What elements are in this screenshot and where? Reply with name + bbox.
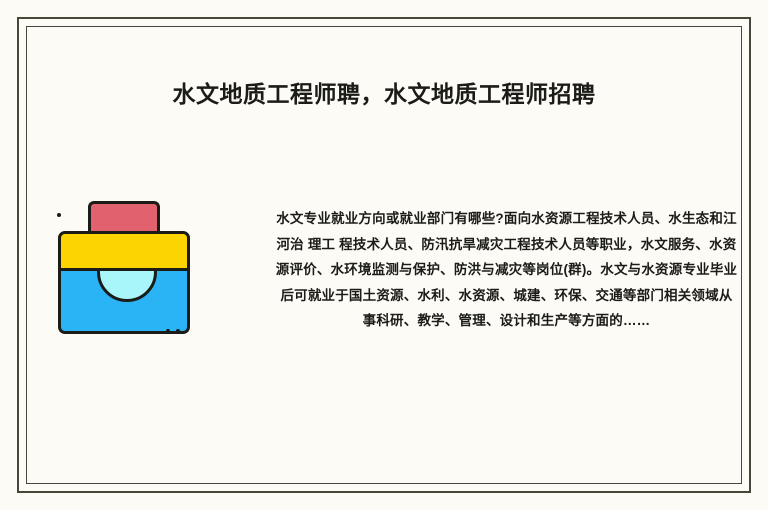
- article-body-text: 水文专业就业方向或就业部门有哪些?面向水资源工程技术人员、水生态和江河治 理工 …: [274, 206, 739, 334]
- toolbox-briefcase-illustration: [58, 201, 192, 337]
- briefcase-rivet-bottom-right-icon: [176, 329, 180, 333]
- briefcase-rivet-bottom-icon: [166, 329, 170, 333]
- page-content: 水文地质工程师聘，水文地质工程师招聘 水文专业就业方向或就业部门有哪些?面向水资…: [26, 26, 742, 484]
- briefcase-body-icon: [58, 267, 190, 334]
- briefcase-band-icon: [58, 231, 190, 271]
- page-title: 水文地质工程师聘，水文地质工程师招聘: [26, 81, 742, 109]
- briefcase-rivet-left-icon: [57, 213, 61, 217]
- page-root: 水文地质工程师聘，水文地质工程师招聘 水文专业就业方向或就业部门有哪些?面向水资…: [0, 0, 768, 510]
- briefcase-arc-icon: [97, 267, 157, 302]
